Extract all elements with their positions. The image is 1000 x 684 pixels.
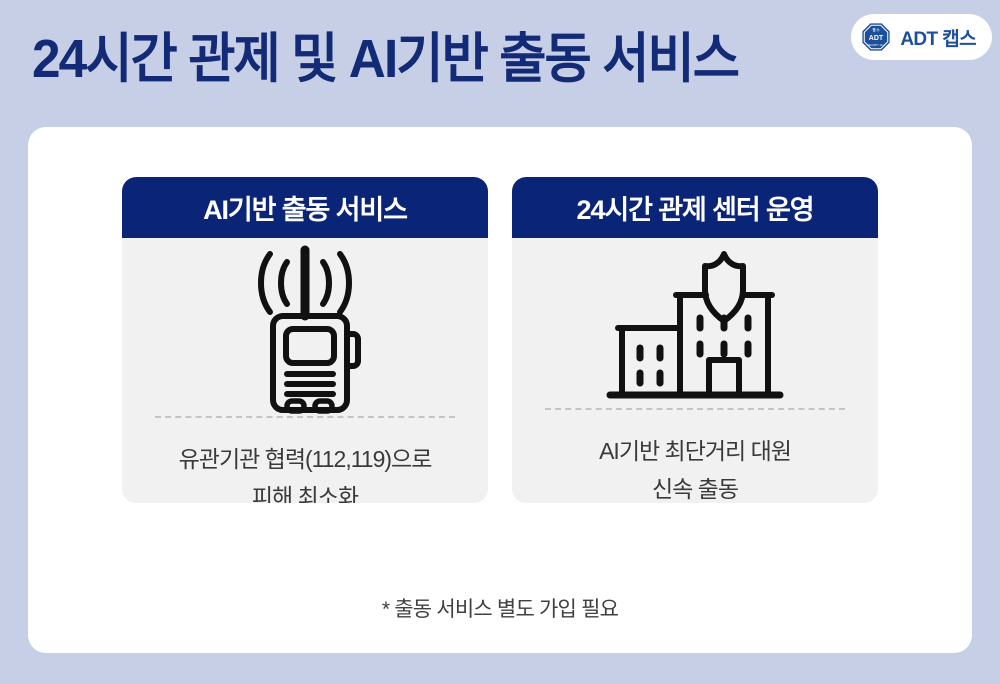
card-body: AI기반 최단거리 대원 신속 출동	[512, 238, 878, 503]
walkie-talkie-icon	[230, 238, 380, 416]
card-body: 유관기관 협력(112,119)으로 피해 최소화	[122, 238, 488, 503]
page-title: 24시간 관제 및 AI기반 출동 서비스	[32, 26, 738, 92]
feature-cards-row: AI기반 출동 서비스	[122, 177, 878, 503]
card-caption: 유관기관 협력(112,119)으로 피해 최소화	[179, 440, 432, 503]
card-title: 24시간 관제 센터 운영	[577, 188, 814, 227]
card-divider	[545, 408, 845, 410]
adt-octagon-shield-logo-icon: ADT 캡 스 SECURITY No.1	[861, 22, 891, 52]
brand-badge: ADT 캡 스 SECURITY No.1 ADT 캡스	[851, 14, 992, 60]
feature-card-monitoring-center: 24시간 관제 센터 운영	[512, 177, 878, 503]
footnote: * 출동 서비스 별도 가입 필요	[28, 593, 972, 623]
brand-name: ADT 캡스	[900, 24, 976, 51]
card-caption: AI기반 최단거리 대원 신속 출동	[599, 432, 791, 503]
svg-text:캡 스: 캡 스	[873, 27, 880, 32]
monitoring-center-building-shield-icon	[600, 238, 790, 408]
svg-text:SECURITY No.1: SECURITY No.1	[868, 45, 886, 47]
svg-text:ADT: ADT	[869, 35, 884, 42]
page-header: 24시간 관제 및 AI기반 출동 서비스 ADT 캡 스 SECURITY N…	[0, 0, 1000, 127]
card-header: AI기반 출동 서비스	[122, 177, 488, 238]
content-panel: AI기반 출동 서비스	[28, 127, 972, 653]
feature-card-ai-dispatch: AI기반 출동 서비스	[122, 177, 488, 503]
card-divider	[155, 416, 455, 418]
card-header: 24시간 관제 센터 운영	[512, 177, 878, 238]
card-title: AI기반 출동 서비스	[203, 188, 407, 227]
